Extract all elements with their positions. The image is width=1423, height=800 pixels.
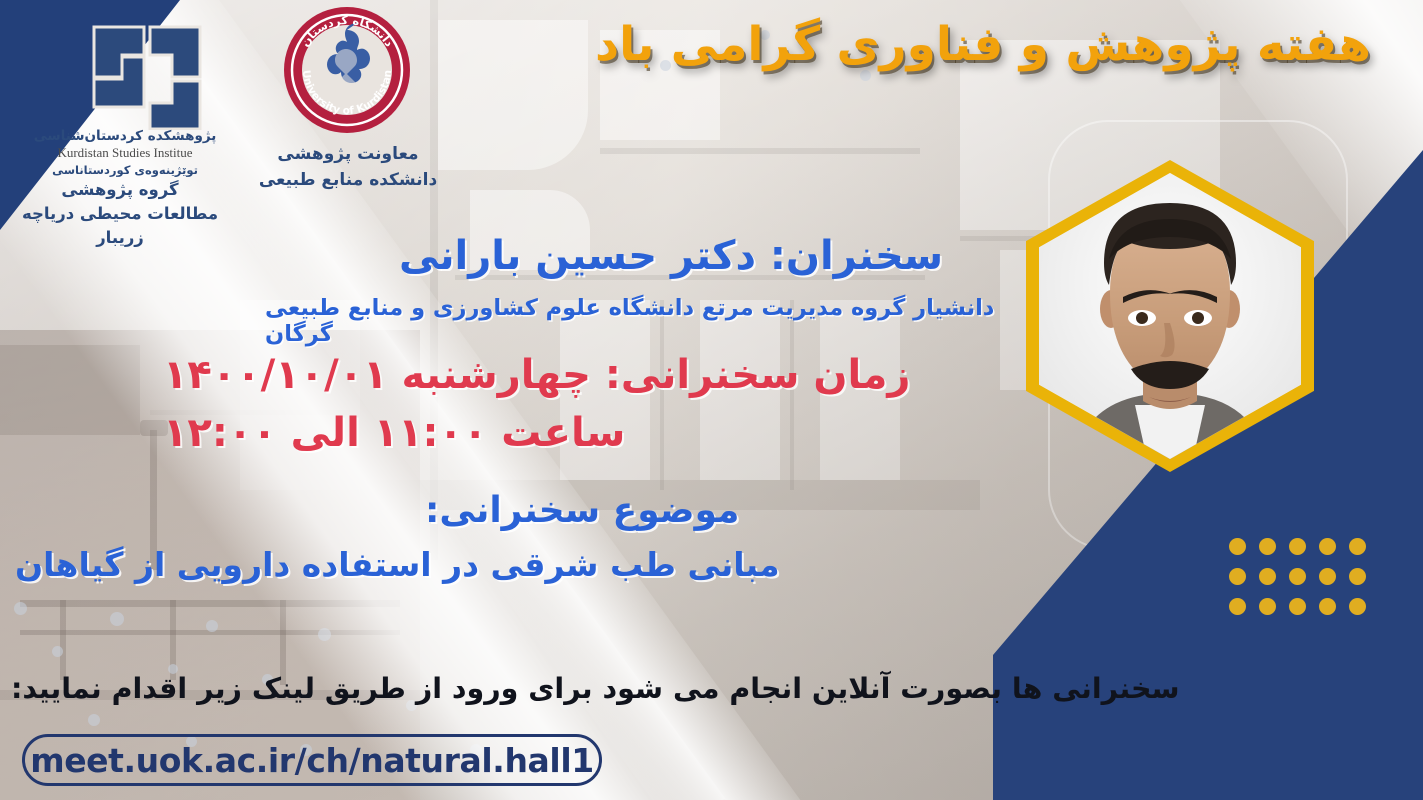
decor-dot (1259, 598, 1276, 615)
poster-headline: هفته پژوهش و فناوری گرامی باد (595, 18, 1405, 72)
topic-title: مبانی طب شرقی در استفاده دارویی از گیاها… (15, 545, 1005, 584)
kurdistan-studies-institute-logo (92, 25, 202, 130)
lecture-time: ساعت ۱۱:۰۰ الی ۱۲:۰۰ (163, 410, 1033, 456)
topic-label: موضوع سخنرانی: (425, 490, 1005, 531)
decor-dot (1289, 598, 1306, 615)
decor-dot (1319, 568, 1336, 585)
bokeh-dot (110, 612, 124, 626)
research-group-line1: گروه پژوهشی (0, 178, 240, 202)
institute-mark-icon (92, 25, 202, 130)
decor-dot (1349, 568, 1366, 585)
decor-dot (1289, 538, 1306, 555)
deputy-line2: دانشکده منابع طبیعی (248, 168, 448, 194)
research-group-block: گروه پژوهشی مطالعات محیطی دریاچه زریبار (0, 178, 240, 250)
institute-name-en: Kurdistan Studies Institue (0, 145, 250, 162)
decor-dot (1349, 538, 1366, 555)
institute-name-fa: پژوهشکده کردستان‌شناسی (0, 128, 250, 145)
meeting-link-text[interactable]: meet.uok.ac.ir/ch/natural.hall1 (30, 741, 594, 780)
decor-dot (1319, 538, 1336, 555)
railing-post (60, 600, 66, 680)
online-note: سخنرانی ها بصورت آنلاین انجام می شود برا… (11, 672, 1401, 705)
speaker-portrait (1026, 160, 1314, 472)
research-group-line2: مطالعات محیطی دریاچه زریبار (0, 202, 240, 250)
institute-name-block: پژوهشکده کردستان‌شناسی Kurdistan Studies… (0, 128, 250, 178)
decor-dot-grid (1216, 538, 1366, 628)
institute-name-ku: توێژینەوەی کوردستاناسی (0, 162, 250, 178)
decor-dot (1229, 598, 1246, 615)
uok-seal-icon: دانشگاه کردستان University of Kurdistan (283, 6, 411, 134)
speaker-affiliation: دانشیار گروه مدیریت مرتع دانشگاه علوم کش… (265, 295, 1025, 347)
decor-dot (1229, 568, 1246, 585)
decor-dot (1259, 538, 1276, 555)
lecture-date: زمان سخنرانی: چهارشنبه ۱۴۰۰/۱۰/۰۱ (163, 352, 1033, 398)
poster-canvas: پژوهشکده کردستان‌شناسی Kurdistan Studies… (0, 0, 1423, 800)
bokeh-dot (14, 602, 27, 615)
decor-dot (1349, 598, 1366, 615)
speaker-name: سخنران: دکتر حسین بارانی (399, 233, 1019, 279)
university-of-kurdistan-seal: دانشگاه کردستان University of Kurdistan (283, 6, 411, 134)
bokeh-dot (88, 714, 100, 726)
decor-dot (1289, 568, 1306, 585)
decor-dot (1229, 538, 1246, 555)
decor-dot (1319, 598, 1336, 615)
bokeh-dot (206, 620, 218, 632)
bokeh-dot (52, 646, 63, 657)
meeting-link-pill[interactable]: meet.uok.ac.ir/ch/natural.hall1 (22, 734, 602, 786)
decor-dot (1259, 568, 1276, 585)
deputy-line1: معاونت پژوهشی (248, 142, 448, 168)
faculty-block: معاونت پژوهشی دانشکده منابع طبیعی (248, 142, 448, 193)
